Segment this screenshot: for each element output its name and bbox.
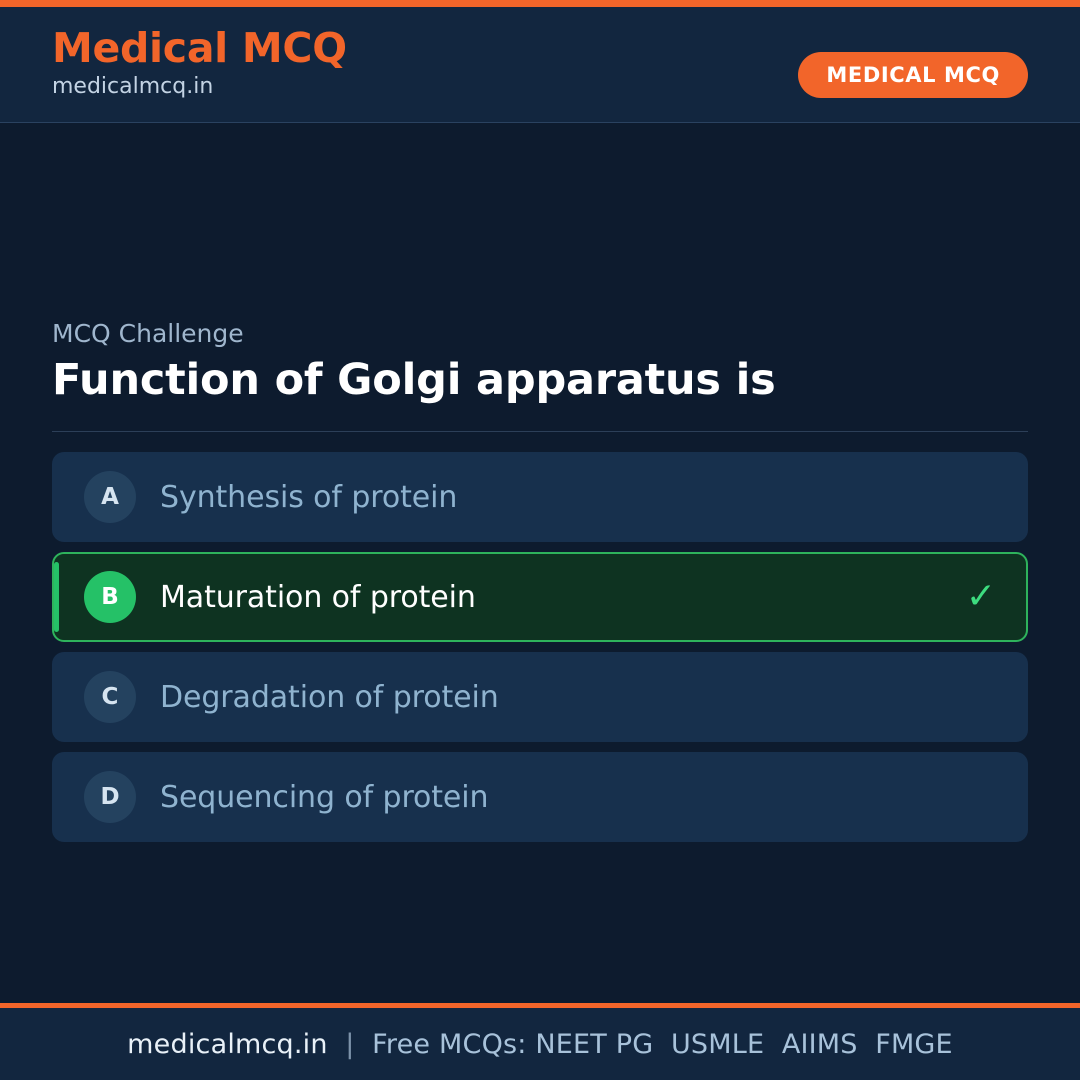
footer: medicalmcq.in | Free MCQs: NEET PG USMLE… [0,1008,1080,1080]
section-eyebrow: MCQ Challenge [52,319,1028,348]
brand-subtitle: medicalmcq.in [52,74,347,100]
option-a[interactable]: A Synthesis of protein [52,452,1028,542]
header-badge: MEDICAL MCQ [798,52,1028,98]
divider [52,431,1028,432]
option-c-label: Degradation of protein [160,680,499,715]
option-d[interactable]: D Sequencing of protein [52,752,1028,842]
header: Medical MCQ medicalmcq.in MEDICAL MCQ [0,7,1080,123]
options-list: A Synthesis of protein B Maturation of p… [52,452,1028,842]
brand: Medical MCQ medicalmcq.in [52,25,347,101]
footer-exam-tags: NEET PG USMLE AIIMS FMGE [535,1029,952,1060]
correct-accent-bar [54,562,59,632]
footer-separator: | [328,1029,372,1060]
option-a-letter: A [84,471,136,523]
option-c[interactable]: C Degradation of protein [52,652,1028,742]
option-b-label: Maturation of protein [160,580,476,615]
top-accent-rule [0,0,1080,7]
option-c-letter: C [84,671,136,723]
footer-free-label: Free MCQs: [372,1029,526,1060]
main-content: MCQ Challenge Function of Golgi apparatu… [0,123,1080,1003]
option-d-label: Sequencing of protein [160,780,488,815]
footer-site: medicalmcq.in [127,1029,328,1060]
option-a-label: Synthesis of protein [160,480,457,515]
brand-title: Medical MCQ [52,25,347,72]
option-b-letter: B [84,571,136,623]
footer-tags [527,1029,536,1060]
option-b[interactable]: B Maturation of protein ✓ [52,552,1028,642]
option-d-letter: D [84,771,136,823]
check-icon: ✓ [966,579,996,615]
question-text: Function of Golgi apparatus is [52,354,1028,406]
slide: Medical MCQ medicalmcq.in MEDICAL MCQ MC… [0,0,1080,1080]
